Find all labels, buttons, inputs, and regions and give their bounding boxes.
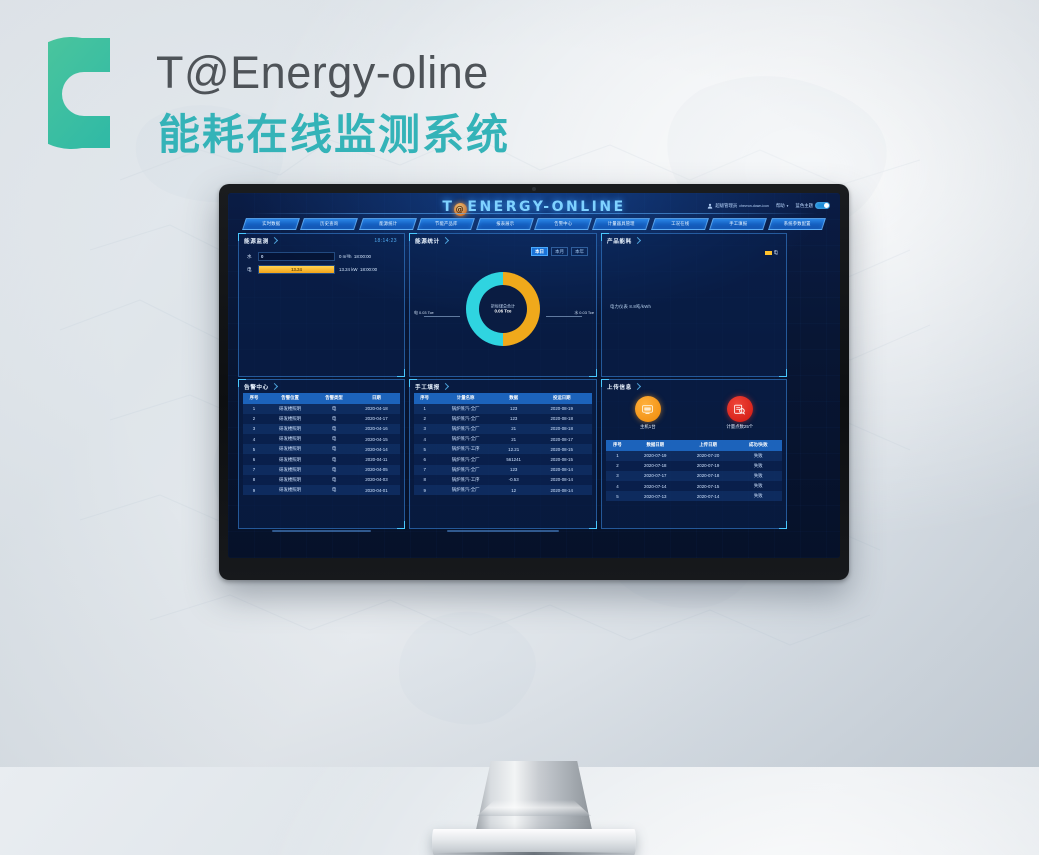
title-divider	[250, 213, 818, 214]
table-row[interactable]: 5研发楼照明电2020-04-14	[243, 444, 400, 454]
meter-search-icon	[727, 396, 753, 422]
table-row[interactable]: 7锅炉蒸汽-全厂1232020-08-14	[414, 465, 592, 475]
table-cell: 2020-04-14	[353, 447, 400, 452]
table-cell: 4	[243, 437, 265, 442]
theme-switch[interactable]	[815, 202, 830, 209]
table-header-cell: 计量名称	[435, 395, 496, 401]
user-name: 超级管理员	[715, 203, 737, 209]
table-cell: 21	[496, 437, 532, 442]
table-cell: 123	[496, 406, 532, 411]
table-cell: 失败	[734, 463, 782, 469]
nav-item-product-library[interactable]: 节能产品库	[417, 218, 475, 230]
table-cell: 研发楼照明	[265, 487, 315, 493]
panel-upload-info: 上传信息 主机1台	[601, 379, 787, 529]
table-row[interactable]: 3研发楼照明电2020-04-16	[243, 424, 400, 434]
table-cell: 2020-08-15	[531, 457, 592, 462]
table-cell: 研发楼照明	[265, 416, 315, 422]
table-cell: 12	[496, 488, 532, 493]
table-row[interactable]: 9锅炉蒸汽-全厂122020-08-14	[414, 485, 592, 495]
c-mark-logo	[48, 32, 118, 152]
nav-item-system-config[interactable]: 系统参数配置	[768, 218, 826, 230]
panel-title: 上传信息	[607, 383, 640, 391]
table-cell: 2020-08-14	[531, 488, 592, 493]
table-header-row: 序号计量名称数据投运日期	[414, 393, 592, 404]
table-row[interactable]: 6研发楼照明电2020-04-11	[243, 454, 400, 464]
table-cell: 3	[414, 426, 435, 431]
panel-title-text: 告警中心	[244, 385, 269, 391]
table-cell: 2020-07-18	[629, 463, 682, 468]
table-cell: 研发楼照明	[265, 477, 315, 483]
table-cell: 研发楼照明	[265, 457, 315, 463]
table-cell: 锅炉蒸汽-全厂	[435, 467, 496, 473]
legend-swatch-icon	[765, 251, 772, 255]
nav-label: 历史查询	[303, 219, 355, 229]
panel-manual-entry: 手工填报 序号计量名称数据投运日期1锅炉蒸汽-全厂1232020-08-192锅…	[409, 379, 597, 529]
panel-title: 产品能耗	[607, 237, 640, 245]
table-cell: 2020-08-14	[531, 477, 592, 482]
table-row[interactable]: 7研发楼照明电2020-04-05	[243, 465, 400, 475]
monitor-bezel: T@ENERGY-ONLINE 超级管理员 chevron-down-icon …	[219, 184, 849, 580]
table-cell: 2020-04-03	[353, 477, 400, 482]
nav-item-meter-management[interactable]: 计量器具管理	[592, 218, 650, 230]
table-cell: 123	[496, 467, 532, 472]
panel-corner-icon	[442, 237, 449, 244]
table-cell: 电	[315, 457, 353, 463]
table-row[interactable]: 42020-07-142020-07-15失败	[606, 481, 782, 491]
table-cell: 锅炉蒸汽-全厂	[435, 436, 496, 442]
brand-chinese-title: 能耗在线监测系统	[158, 114, 510, 156]
table-cell: 电	[315, 436, 353, 442]
table-cell: 21	[496, 426, 532, 431]
host-device-icon	[635, 396, 661, 422]
table-cell: 8	[243, 477, 265, 482]
nav-label: 工况在线	[654, 219, 706, 229]
horizontal-scrollbar[interactable]	[447, 530, 559, 532]
table-header-cell: 数据日期	[629, 442, 682, 448]
meter-value: 0	[259, 253, 334, 260]
nav-item-condition-online[interactable]: 工况在线	[651, 218, 709, 230]
table-cell: 6	[243, 457, 265, 462]
table-cell: 研发楼照明	[265, 467, 315, 473]
alarm-table[interactable]: 序号告警位置告警类型日期1研发楼照明电2020-04-182研发楼照明电2020…	[243, 393, 400, 526]
table-cell: 研发楼照明	[265, 406, 315, 412]
meter-bar-track: 13.24	[258, 265, 335, 274]
table-cell: 2	[414, 416, 435, 421]
table-header-cell: 序号	[414, 395, 435, 401]
dashboard: T@ENERGY-ONLINE 超级管理员 chevron-down-icon …	[228, 193, 840, 558]
at-symbol-icon: @	[454, 203, 467, 216]
donut-center-label: 折标煤总合计	[491, 303, 515, 308]
panel-title-text: 产品能耗	[607, 239, 632, 245]
product-axis-note: 电力仪表 8.8吨/kWh	[610, 304, 651, 310]
table-cell: 2020-04-18	[353, 406, 400, 411]
donut-leader-right	[546, 316, 582, 317]
table-cell: 电	[315, 416, 353, 422]
table-cell: 2020-08-18	[531, 426, 592, 431]
donut-center-value: 0.06 Tce	[479, 309, 527, 315]
table-row[interactable]: 2研发楼照明电2020-04-17	[243, 414, 400, 424]
table-cell: 1	[243, 406, 265, 411]
tab-year[interactable]: 本年	[571, 247, 588, 256]
table-cell: 研发楼照明	[265, 426, 315, 432]
nav-label: 手工填报	[712, 219, 764, 229]
table-cell: 12.21	[496, 447, 532, 452]
panel-energy-statistics: 能源统计 本日 本月 本年 电 0.03 Tce 水 0.03 Tce	[409, 233, 597, 377]
user-icon	[707, 203, 713, 209]
table-row[interactable]: 8研发楼照明电2020-04-03	[243, 475, 400, 485]
table-cell: 5	[606, 494, 629, 499]
meter-row-water: 水 0 0 m³/h 18:00:00	[247, 252, 397, 261]
nav-item-realtime[interactable]: 实时数据	[242, 218, 300, 230]
table-row[interactable]: 9研发楼照明电2020-04-01	[243, 485, 400, 495]
meter-search-glyph	[733, 403, 746, 416]
nav-item-reports[interactable]: 报表展示	[476, 218, 534, 230]
table-cell: 2020-04-05	[353, 467, 400, 472]
table-cell: 2	[243, 416, 265, 421]
donut-label-water: 水 0.03 Tce	[574, 310, 594, 316]
upload-stat-meters[interactable]: 计量点数25个	[726, 396, 753, 438]
table-header-cell: 告警类型	[315, 395, 353, 401]
table-cell: 2020-08-19	[531, 406, 592, 411]
table-cell: 2020-04-01	[353, 488, 400, 493]
table-header-cell: 成功/失败	[734, 442, 782, 448]
table-cell: 7	[414, 467, 435, 472]
table-cell: 4	[606, 484, 629, 489]
table-cell: 1	[606, 453, 629, 458]
table-cell: 锅炉蒸汽-全厂	[435, 487, 496, 493]
panel-title: 能源统计	[415, 237, 448, 245]
table-cell: 561241	[496, 457, 532, 462]
panel-corner-icon	[634, 237, 641, 244]
upload-stat-circles: 主机1台 计量点数25个	[602, 396, 786, 438]
main-nav: 实时数据 历史查询 能源统计 节能产品库 报表展示 告警中心 计量器具管理 工况…	[244, 218, 824, 230]
table-cell: 失败	[734, 453, 782, 459]
nav-label: 能源统计	[362, 219, 414, 229]
nav-item-statistics[interactable]: 能源统计	[359, 218, 417, 230]
meter-label: 电	[247, 267, 254, 273]
table-row[interactable]: 22020-07-182020-07-19失败	[606, 461, 782, 471]
monitor-screen: T@ENERGY-ONLINE 超级管理员 chevron-down-icon …	[228, 193, 840, 558]
table-cell: 电	[315, 477, 353, 483]
table-header-cell: 投运日期	[531, 395, 592, 401]
product-legend: 电	[765, 250, 778, 256]
table-cell: 5	[414, 447, 435, 452]
table-cell: 电	[315, 467, 353, 473]
panel-title: 能源监测	[244, 237, 277, 245]
brand-header: T@Energy-oline 能耗在线监测系统	[48, 26, 588, 156]
table-cell: 锅炉蒸汽-工序	[435, 477, 496, 483]
table-header-row: 序号告警位置告警类型日期	[243, 393, 400, 404]
table-cell: 2020-04-17	[353, 416, 400, 421]
panel-corner-icon	[271, 383, 278, 390]
table-cell: 电	[315, 406, 353, 412]
table-row[interactable]: 4锅炉蒸汽-全厂212020-08-17	[414, 434, 592, 444]
table-cell: 2	[606, 463, 629, 468]
table-cell: 2020-08-15	[531, 447, 592, 452]
panel-corner-icon	[271, 237, 278, 244]
meter-reading-value: 0 m³/h	[339, 254, 351, 259]
table-row[interactable]: 5锅炉蒸汽-工序12.212020-08-15	[414, 444, 592, 454]
monitor-mockup: T@ENERGY-ONLINE 超级管理员 chevron-down-icon …	[219, 184, 849, 580]
panel-title-text: 上传信息	[607, 385, 632, 391]
chevron-down-icon: ▾	[787, 204, 789, 208]
theme-toggle[interactable]: 蓝色主题	[795, 202, 830, 209]
nav-label: 实时数据	[245, 219, 297, 229]
table-cell: 6	[414, 457, 435, 462]
table-row[interactable]: 1锅炉蒸汽-全厂1232020-08-19	[414, 404, 592, 414]
table-cell: 研发楼照明	[265, 436, 315, 442]
table-cell: 2020-04-15	[353, 437, 400, 442]
panel-title-text: 能源监测	[244, 239, 269, 245]
table-cell: 2020-04-11	[353, 457, 400, 462]
nav-item-manual-entry[interactable]: 手工填报	[709, 218, 767, 230]
table-cell: 锅炉蒸汽-全厂	[435, 416, 496, 422]
meter-reading-time: 18:00:00	[360, 267, 377, 272]
panel-title: 告警中心	[244, 383, 277, 391]
panel-title-text: 能源统计	[415, 239, 440, 245]
table-cell: 2020-07-19	[629, 453, 682, 458]
tab-day[interactable]: 本日	[531, 247, 548, 256]
panel-title: 手工填报	[415, 383, 448, 391]
table-row[interactable]: 32020-07-172020-07-18失败	[606, 471, 782, 481]
table-cell: 123	[496, 416, 532, 421]
panel-alarm-center: 告警中心 序号告警位置告警类型日期1研发楼照明电2020-04-182研发楼照明…	[238, 379, 405, 529]
upload-stat-host[interactable]: 主机1台	[635, 396, 661, 438]
table-cell: 研发楼照明	[265, 446, 315, 452]
donut-ring: 折标煤总合计 0.06 Tce	[466, 272, 540, 346]
panel-energy-monitor: 能源监测 18:14:23 水 0 0 m³/h 18:00:00 电	[238, 233, 405, 377]
table-header-cell: 数据	[496, 395, 532, 401]
panel-title-text: 手工填报	[415, 385, 440, 391]
table-cell: 7	[243, 467, 265, 472]
donut-center-text: 折标煤总合计 0.06 Tce	[479, 303, 527, 314]
meter-reading-value: 13.24 kW	[339, 267, 358, 272]
nav-label: 告警中心	[537, 219, 589, 229]
table-header-cell: 序号	[606, 442, 629, 448]
table-cell: -0.53	[496, 477, 532, 482]
table-cell: 锅炉蒸汽-全厂	[435, 406, 496, 412]
table-cell: 3	[243, 426, 265, 431]
table-row[interactable]: 12020-07-192020-07-20失败	[606, 451, 782, 461]
table-cell: 2020-08-14	[531, 467, 592, 472]
horizontal-scrollbar[interactable]	[272, 530, 371, 532]
nav-label: 系统参数配置	[771, 219, 823, 229]
meter-bar-track: 0	[258, 252, 335, 261]
table-cell: 失败	[734, 493, 782, 499]
donut-leader-left	[424, 316, 460, 317]
stats-period-tabs: 本日 本月 本年	[531, 247, 588, 256]
nav-label: 报表展示	[479, 219, 531, 229]
meter-count-label: 计量点数25个	[726, 424, 753, 430]
table-cell: 电	[315, 487, 353, 493]
chevron-down-icon: chevron-down-icon	[739, 204, 769, 208]
table-cell: 2020-07-19	[682, 463, 735, 468]
table-cell: 1	[414, 406, 435, 411]
table-header-cell: 告警位置	[265, 395, 315, 401]
table-header-cell: 日期	[353, 395, 400, 401]
table-cell: 2020-07-14	[682, 494, 735, 499]
table-cell: 电	[315, 426, 353, 432]
table-cell: 电	[315, 446, 353, 452]
nav-item-history[interactable]: 历史查询	[300, 218, 358, 230]
meter-row-electricity: 电 13.24 13.24 kW 18:00:00	[247, 265, 397, 274]
table-row[interactable]: 3锅炉蒸汽-全厂212020-08-18	[414, 424, 592, 434]
manual-table[interactable]: 序号计量名称数据投运日期1锅炉蒸汽-全厂1232020-08-192锅炉蒸汽-全…	[414, 393, 592, 526]
meter-reading-time: 18:00:00	[354, 254, 371, 259]
table-cell: 2020-07-14	[629, 484, 682, 489]
table-cell: 锅炉蒸汽-工序	[435, 446, 496, 452]
table-row[interactable]: 6锅炉蒸汽-全厂5612412020-08-15	[414, 454, 592, 464]
table-cell: 2020-07-18	[682, 473, 735, 478]
table-header-row: 序号数据日期上传日期成功/失败	[606, 440, 782, 451]
table-cell: 5	[243, 447, 265, 452]
table-row[interactable]: 8锅炉蒸汽-工序-0.532020-08-14	[414, 475, 592, 485]
table-cell: 2020-07-15	[682, 484, 735, 489]
table-cell: 2020-04-16	[353, 426, 400, 431]
table-header-cell: 序号	[243, 395, 265, 401]
panel-corner-icon	[634, 383, 641, 390]
table-cell: 9	[414, 488, 435, 493]
panel-product-energy: 产品能耗 电 电力仪表 8.8吨/kWh	[601, 233, 787, 377]
table-cell: 失败	[734, 483, 782, 489]
table-cell: 锅炉蒸汽-全厂	[435, 457, 496, 463]
table-cell: 2020-07-17	[629, 473, 682, 478]
brand-english-title: T@Energy-oline	[156, 50, 489, 95]
webcam-icon	[532, 187, 536, 191]
donut-chart: 电 0.03 Tce 水 0.03 Tce 折标煤总合计 0.06 Tce	[410, 266, 596, 366]
nav-label: 计量器具管理	[595, 219, 647, 229]
tab-month[interactable]: 本月	[551, 247, 568, 256]
table-row[interactable]: 2锅炉蒸汽-全厂1232020-08-18	[414, 414, 592, 424]
nav-label: 节能产品库	[420, 219, 472, 229]
host-count-label: 主机1台	[635, 424, 661, 430]
user-bar: 超级管理员 chevron-down-icon 帮助 ▾ 蓝色主题	[707, 202, 830, 209]
table-cell: 2020-08-18	[531, 416, 592, 421]
table-cell: 2020-08-17	[531, 437, 592, 442]
monitor-clock: 18:14:23	[374, 238, 397, 244]
nav-item-alarm-center[interactable]: 告警中心	[534, 218, 592, 230]
table-cell: 8	[414, 477, 435, 482]
table-cell: 2020-07-20	[682, 453, 735, 458]
help-label: 帮助	[776, 203, 785, 209]
panel-corner-icon	[442, 383, 449, 390]
table-header-cell: 上传日期	[682, 442, 735, 448]
table-cell: 9	[243, 488, 265, 493]
table-cell: 失败	[734, 473, 782, 479]
host-device-glyph	[641, 403, 654, 416]
table-row[interactable]: 52020-07-132020-07-14失败	[606, 491, 782, 501]
table-row[interactable]: 4研发楼照明电2020-04-15	[243, 434, 400, 444]
legend-label: 电	[774, 250, 778, 256]
table-cell: 3	[606, 473, 629, 478]
table-cell: 4	[414, 437, 435, 442]
meter-reading: 0 m³/h 18:00:00	[339, 254, 397, 259]
donut-hole: 折标煤总合计 0.06 Tce	[479, 285, 527, 333]
help-menu[interactable]: 帮助 ▾	[776, 203, 789, 209]
user-menu[interactable]: 超级管理员 chevron-down-icon	[707, 203, 769, 209]
meter-label: 水	[247, 254, 254, 260]
theme-label: 蓝色主题	[795, 203, 813, 209]
table-cell: 2020-07-13	[629, 494, 682, 499]
donut-label-electricity: 电 0.03 Tce	[414, 310, 434, 316]
table-row[interactable]: 1研发楼照明电2020-04-18	[243, 404, 400, 414]
meter-value: 13.24	[259, 266, 334, 273]
upload-table[interactable]: 序号数据日期上传日期成功/失败12020-07-192020-07-20失败22…	[606, 440, 782, 526]
meter-reading: 13.24 kW 18:00:00	[339, 267, 397, 272]
table-cell: 锅炉蒸汽-全厂	[435, 426, 496, 432]
